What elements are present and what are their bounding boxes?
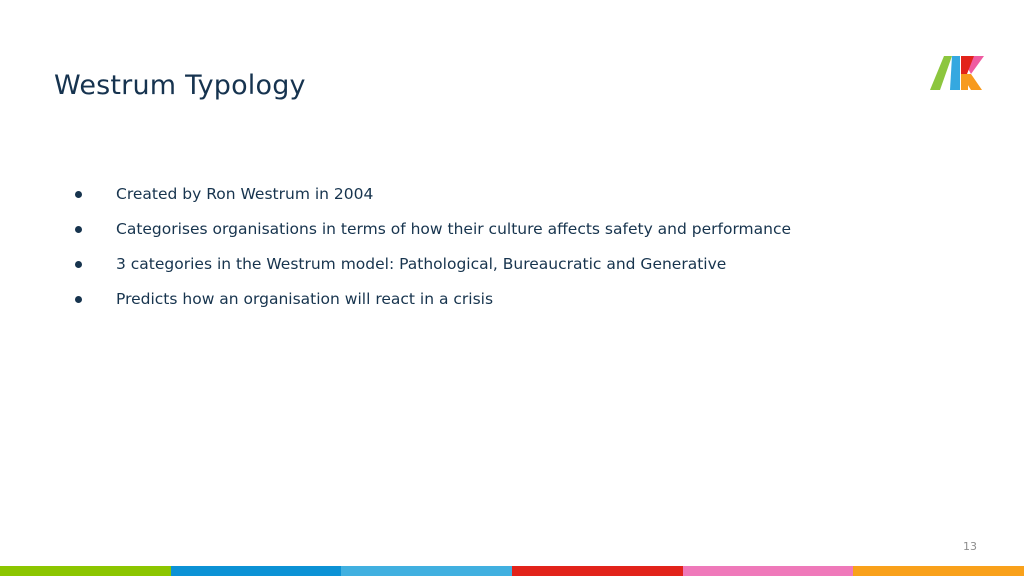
list-item-label: 3 categories in the Westrum model: Patho… xyxy=(116,255,726,273)
ak-monogram-logo xyxy=(930,52,986,90)
footer-segment-red xyxy=(512,566,683,576)
page-title: Westrum Typology xyxy=(54,70,306,101)
bullet-dot-icon xyxy=(75,261,82,268)
bullet-dot-icon xyxy=(75,296,82,303)
bullet-dot-icon xyxy=(75,226,82,233)
footer-segment-light-blue xyxy=(341,566,512,576)
blue-diagonal-icon xyxy=(950,56,960,90)
green-left-leg-icon xyxy=(930,56,952,90)
list-item-label: Created by Ron Westrum in 2004 xyxy=(116,185,373,203)
logo-svg xyxy=(930,52,986,90)
slide: Westrum Typology Created by Ron Westrum … xyxy=(0,0,1024,576)
list-item-label: Categorises organisations in terms of ho… xyxy=(116,220,791,238)
footer-segment-blue xyxy=(171,566,342,576)
bullet-dot-icon xyxy=(75,191,82,198)
list-item: Predicts how an organisation will react … xyxy=(70,288,950,310)
list-item: 3 categories in the Westrum model: Patho… xyxy=(70,253,950,275)
page-number: 13 xyxy=(963,540,977,553)
orange-lower-base-icon xyxy=(961,74,968,90)
footer-color-bar xyxy=(0,566,1024,576)
list-item: Created by Ron Westrum in 2004 xyxy=(70,183,950,205)
footer-segment-pink xyxy=(683,566,854,576)
footer-segment-orange xyxy=(853,566,1024,576)
list-item-label: Predicts how an organisation will react … xyxy=(116,290,493,308)
footer-segment-green xyxy=(0,566,171,576)
list-item: Categorises organisations in terms of ho… xyxy=(70,218,950,240)
bullet-list: Created by Ron Westrum in 2004 Categoris… xyxy=(70,183,950,323)
